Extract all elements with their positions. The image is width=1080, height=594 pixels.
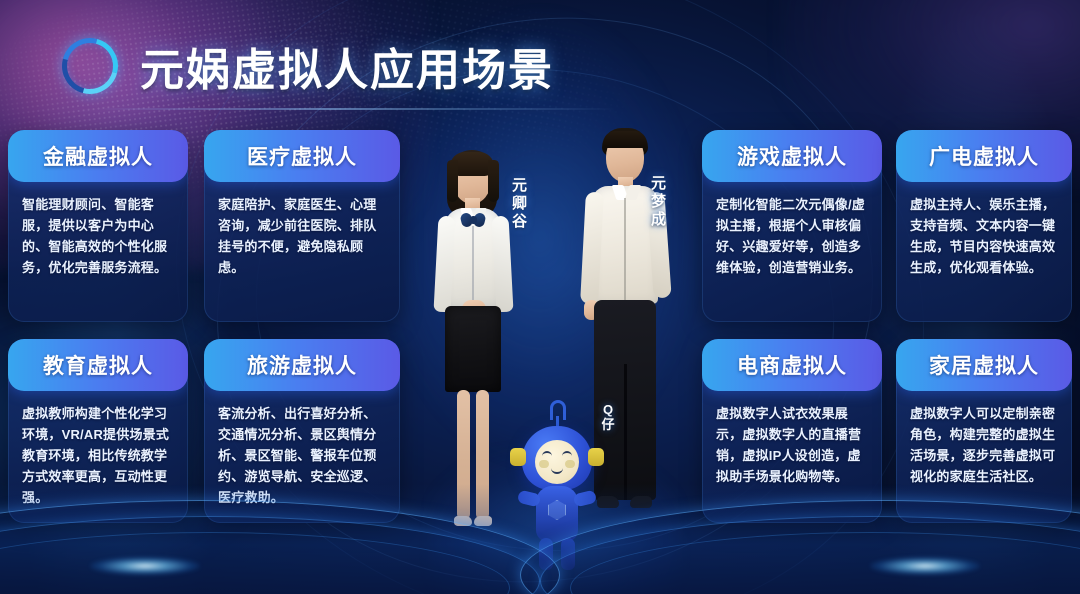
card-title: 家居虚拟人 bbox=[929, 350, 1039, 380]
cheek-left bbox=[539, 460, 549, 468]
cheek-right bbox=[565, 460, 575, 468]
scenario-card-game[interactable]: 游戏虚拟人 定制化智能二次元偶像/虚拟主播，根据个人审核偏好、兴趣爱好等，创造多… bbox=[702, 130, 882, 322]
card-header: 金融虚拟人 bbox=[8, 130, 188, 182]
scenario-card-finance[interactable]: 金融虚拟人 智能理财顾问、智能客服，提供以客户为中心的、智能高效的个性化服务，优… bbox=[8, 130, 188, 322]
light-flare-right bbox=[870, 557, 980, 575]
hair-fringe bbox=[603, 131, 647, 148]
title-divider bbox=[96, 108, 616, 110]
light-flare-left bbox=[90, 557, 200, 575]
card-body-text: 虚拟主持人、娱乐主播，支持音频、文本内容一键生成，节目内容快速高效生成，优化观看… bbox=[896, 182, 1072, 288]
card-title: 教育虚拟人 bbox=[43, 350, 153, 380]
shirt-placket bbox=[472, 226, 474, 306]
eye-right bbox=[562, 451, 572, 456]
card-body-text: 智能理财顾问、智能客服，提供以客户为中心的、智能高效的个性化服务，优化完善服务流… bbox=[8, 182, 188, 288]
avatar-female-name: 元卿谷 bbox=[508, 177, 529, 231]
scenario-card-medical[interactable]: 医疗虚拟人 家庭陪护、家庭医生、心理咨询，减少前往医院、排队挂号的不便，避免隐私… bbox=[204, 130, 400, 322]
shirt-placket bbox=[624, 198, 626, 302]
card-body-text: 定制化智能二次元偶像/虚拟主播，根据个人审核偏好、兴趣爱好等，创造多维体验，创造… bbox=[702, 182, 882, 288]
card-title: 医疗虚拟人 bbox=[247, 141, 357, 171]
card-body-text: 家庭陪护、家庭医生、心理咨询，减少前往医院、排队挂号的不便，避免隐私顾虑。 bbox=[204, 182, 400, 288]
card-header: 家居虚拟人 bbox=[896, 339, 1072, 391]
slide-stage: 元娲虚拟人应用场景 金融虚拟人 智能理财顾问、智能客服，提供以客户为中心的、智能… bbox=[0, 0, 1080, 594]
page-title: 元娲虚拟人应用场景 bbox=[140, 34, 554, 98]
scenario-card-broadcast[interactable]: 广电虚拟人 虚拟主持人、娱乐主播，支持音频、文本内容一键生成，节目内容快速高效生… bbox=[896, 130, 1072, 322]
avatar-robot-name: Q仔 bbox=[598, 403, 618, 432]
ear-left bbox=[510, 448, 526, 466]
card-title: 金融虚拟人 bbox=[43, 141, 153, 171]
ear-right bbox=[588, 448, 604, 466]
card-title: 电商虚拟人 bbox=[737, 350, 847, 380]
hair-side-left bbox=[447, 160, 458, 202]
ring-icon bbox=[62, 38, 118, 94]
trouser-seam bbox=[624, 364, 627, 500]
eye-left bbox=[542, 451, 552, 456]
card-title: 游戏虚拟人 bbox=[737, 141, 847, 171]
card-header: 游戏虚拟人 bbox=[702, 130, 882, 182]
card-header: 教育虚拟人 bbox=[8, 339, 188, 391]
bow-knot bbox=[470, 216, 477, 224]
card-body-text: 虚拟数字人可以定制亲密角色，构建完整的虚拟生活场景，逐步完善虚拟可视化的家庭生活… bbox=[896, 391, 1072, 497]
card-header: 广电虚拟人 bbox=[896, 130, 1072, 182]
card-body-text: 虚拟数字人试衣效果展示，虚拟数字人的直播营销，虚拟IP人设创造，虚拟助手场景化购… bbox=[702, 391, 882, 497]
card-header: 旅游虚拟人 bbox=[204, 339, 400, 391]
card-title: 旅游虚拟人 bbox=[247, 350, 357, 380]
card-header: 医疗虚拟人 bbox=[204, 130, 400, 182]
card-header: 电商虚拟人 bbox=[702, 339, 882, 391]
card-title: 广电虚拟人 bbox=[929, 141, 1039, 171]
hair-side-right bbox=[488, 160, 499, 202]
page-title-row: 元娲虚拟人应用场景 bbox=[62, 34, 554, 98]
avatar-male-name: 元梦成 bbox=[647, 175, 668, 229]
skirt-shape bbox=[445, 306, 501, 392]
